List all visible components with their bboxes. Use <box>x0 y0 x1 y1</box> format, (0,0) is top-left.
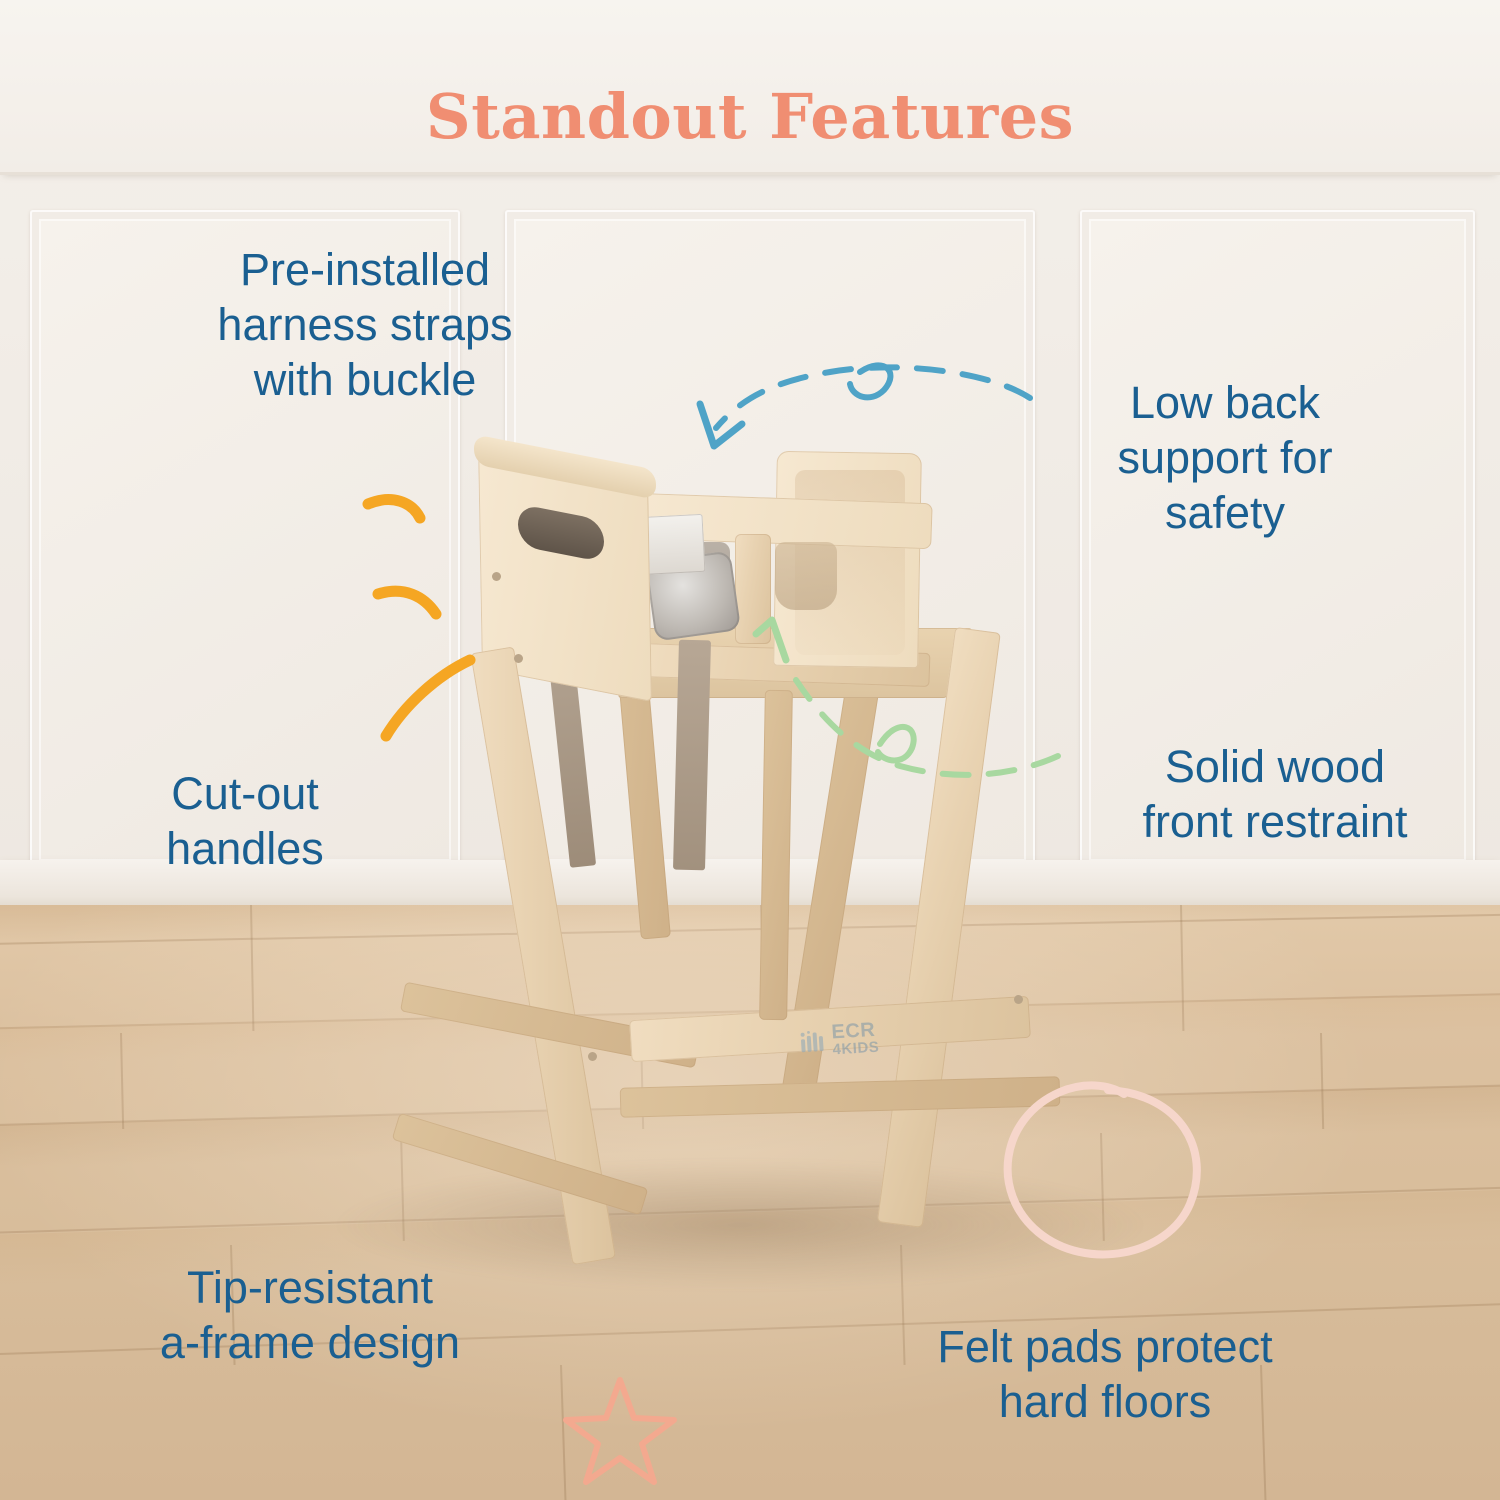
ecr-bars-icon <box>799 1029 826 1053</box>
callout-handles: Cut-out handles <box>95 767 395 877</box>
callout-front-restraint: Solid wood front restraint <box>1070 740 1480 850</box>
page-title: Standout Features <box>0 80 1500 153</box>
chair-seat-support-post <box>759 690 793 1020</box>
brand-logo: ECR 4KIDS <box>799 1020 880 1060</box>
chair-front-restraint-post <box>735 534 771 644</box>
callout-felt-pads: Felt pads protect hard floors <box>855 1320 1355 1430</box>
callout-a-frame: Tip-resistant a-frame design <box>85 1261 535 1371</box>
callout-low-back: Low back support for safety <box>1040 376 1410 541</box>
chair-bottom-cross-rail <box>620 1076 1061 1118</box>
chair-leg-front-right <box>877 627 1001 1228</box>
callout-harness: Pre-installed harness straps with buckle <box>150 243 580 408</box>
screw-left-leg <box>588 1052 597 1061</box>
brand-sub: 4KIDS <box>832 1040 880 1058</box>
screw-left-upper <box>492 572 501 581</box>
chair-tray-cutout-right <box>775 542 837 610</box>
screw-left-lower <box>514 654 523 663</box>
screw-right-leg <box>1014 995 1023 1004</box>
harness-strap-vertical <box>673 640 711 871</box>
harness-strap-diagonal <box>550 671 596 868</box>
product-feature-image: ECR 4KIDS <box>0 0 1500 1500</box>
